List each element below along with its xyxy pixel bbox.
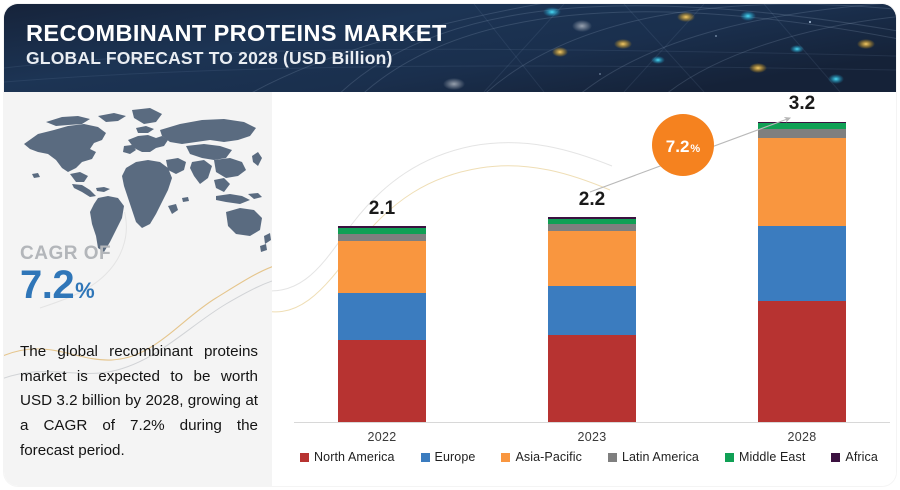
bar-segment-europe[interactable] <box>758 226 846 301</box>
cagr-percent-symbol: % <box>75 280 95 302</box>
legend-label: Asia-Pacific <box>515 450 582 464</box>
bar-segment-asia-pacific[interactable] <box>758 138 846 226</box>
x-axis-line <box>294 422 890 423</box>
bar-stack[interactable] <box>758 122 846 422</box>
legend-label: North America <box>314 450 395 464</box>
header-banner: RECOMBINANT PROTEINS MARKET GLOBAL FOREC… <box>4 4 896 92</box>
page-title: RECOMBINANT PROTEINS MARKET <box>26 20 447 46</box>
bar-stack[interactable] <box>338 226 426 422</box>
x-axis-label-2028: 2028 <box>758 430 846 444</box>
legend-swatch-icon <box>725 453 734 462</box>
bar-total-label: 2.1 <box>338 198 426 220</box>
chart-legend: North AmericaEuropeAsia-PacificLatin Ame… <box>284 450 894 464</box>
legend-label: Latin America <box>622 450 699 464</box>
cagr-callout-percent: % <box>690 144 700 155</box>
legend-swatch-icon <box>501 453 510 462</box>
bar-total-label: 2.2 <box>548 189 636 211</box>
legend-label: Africa <box>845 450 878 464</box>
legend-swatch-icon <box>300 453 309 462</box>
x-axis-label-2022: 2022 <box>338 430 426 444</box>
legend-label: Europe <box>435 450 476 464</box>
bar-segment-asia-pacific[interactable] <box>548 231 636 286</box>
legend-swatch-icon <box>831 453 840 462</box>
summary-sidebar: CAGR OF 7.2 % The global recombinant pro… <box>4 92 272 486</box>
legend-item-asia-pacific[interactable]: Asia-Pacific <box>501 450 582 464</box>
legend-swatch-icon <box>608 453 617 462</box>
bar-stack[interactable] <box>548 217 636 422</box>
bar-total-label: 3.2 <box>758 93 846 115</box>
legend-item-europe[interactable]: Europe <box>421 450 476 464</box>
cagr-callout-value: 7.2 <box>666 138 690 155</box>
cagr-callout-bubble: 7.2 % <box>652 114 714 176</box>
bar-segment-latin-america[interactable] <box>338 234 426 241</box>
header-text-block: RECOMBINANT PROTEINS MARKET GLOBAL FOREC… <box>26 20 447 69</box>
legend-item-middle-east[interactable]: Middle East <box>725 450 805 464</box>
bar-segment-north-america[interactable] <box>758 301 846 422</box>
legend-label: Middle East <box>739 450 805 464</box>
cagr-value: 7.2 <box>20 265 74 305</box>
legend-item-africa[interactable]: Africa <box>831 450 878 464</box>
infographic-card: RECOMBINANT PROTEINS MARKET GLOBAL FOREC… <box>4 4 896 486</box>
legend-item-north-america[interactable]: North America <box>300 450 395 464</box>
legend-swatch-icon <box>421 453 430 462</box>
cagr-label: CAGR OF <box>20 244 111 263</box>
body-area: CAGR OF 7.2 % The global recombinant pro… <box>4 92 896 486</box>
bar-segment-north-america[interactable] <box>548 335 636 422</box>
bar-segment-europe[interactable] <box>338 293 426 340</box>
x-axis-label-2023: 2023 <box>548 430 636 444</box>
cagr-value-row: 7.2 % <box>20 265 111 305</box>
legend-item-latin-america[interactable]: Latin America <box>608 450 699 464</box>
bar-segment-asia-pacific[interactable] <box>338 241 426 293</box>
bar-segment-north-america[interactable] <box>338 340 426 422</box>
bar-segment-europe[interactable] <box>548 286 636 335</box>
bar-segment-latin-america[interactable] <box>758 129 846 138</box>
summary-description: The global recombinant proteins market i… <box>20 340 258 463</box>
infographic-root: RECOMBINANT PROTEINS MARKET GLOBAL FOREC… <box>0 0 900 490</box>
plot-area: 2.12.23.2 <box>294 100 886 422</box>
chart-panel: 2.12.23.2 7.2 % North America <box>272 92 896 486</box>
cagr-highlight: CAGR OF 7.2 % <box>20 244 111 305</box>
page-subtitle: GLOBAL FORECAST TO 2028 (USD Billion) <box>26 49 447 69</box>
